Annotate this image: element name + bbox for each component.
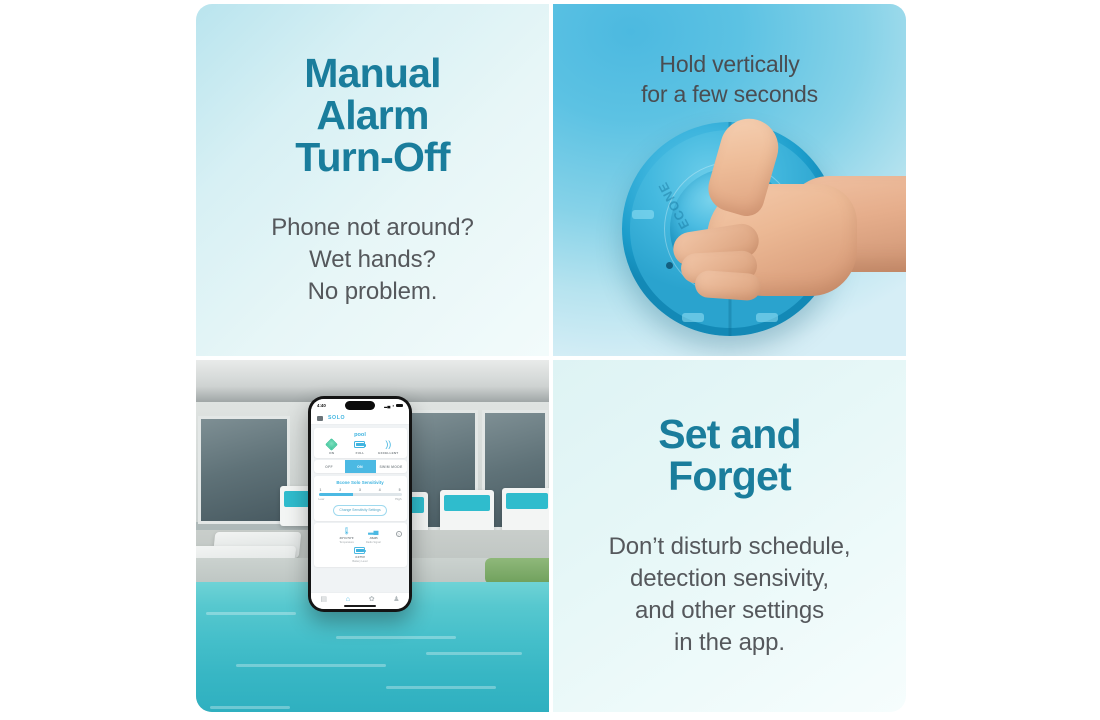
gear-icon[interactable]: ✿: [369, 596, 375, 603]
lawn: [485, 558, 549, 584]
dynamic-island: [345, 401, 375, 410]
mode-button-swim[interactable]: SWIM MODE: [376, 460, 407, 473]
finger: [694, 270, 762, 302]
feature-panel-grid: Manual Alarm Turn-Off Phone not around? …: [196, 4, 904, 716]
stat-radio-signal: ▂▄ -66dB Radio Signal: [366, 527, 381, 544]
device-stats-card: ? 🌡 26°C/79°F Temperature ▂▄ -66dB Radio…: [314, 523, 407, 567]
sensitivity-card: Bcone Solo Sensitivity 1 2 3 4 5 Low: [314, 476, 407, 521]
subtext-line-2: detection sensivity,: [609, 563, 851, 595]
tick-3: 3: [359, 488, 361, 492]
stat-value: 3.075V: [355, 555, 365, 559]
headline-line-3: Turn-Off: [295, 136, 450, 178]
sensitivity-slider[interactable]: [319, 493, 402, 496]
status-item-battery: FULL: [347, 440, 373, 455]
tick-2: 2: [339, 488, 341, 492]
device-notch: [632, 210, 654, 219]
subtext-line-1: Phone not around?: [271, 212, 473, 244]
caption-line-1: Hold vertically: [553, 50, 906, 80]
sensitivity-title: Bcone Solo Sensitivity: [319, 480, 402, 485]
hamburger-menu-icon[interactable]: [317, 416, 323, 421]
patio-chair: [440, 490, 494, 534]
subtext-line-3: and other settings: [609, 595, 851, 627]
status-label: EXCELLENT: [378, 451, 398, 455]
phone-screen: 4:40 ▂▄ ◗ SOLO pool: [311, 399, 409, 609]
headline-line-1: Manual: [295, 52, 450, 94]
stat-label: Radio Signal: [366, 541, 381, 544]
panel-app-photo: 4:40 ▂▄ ◗ SOLO pool: [196, 360, 549, 712]
device-status-card: pool ON FULL )): [314, 428, 407, 458]
battery-icon: [354, 440, 365, 450]
caption-line-2: for a few seconds: [553, 80, 906, 110]
stats-row-top: 🌡 26°C/79°F Temperature ▂▄ -66dB Radio S…: [318, 527, 403, 544]
subtext-line-1: Don’t disturb schedule,: [609, 531, 851, 563]
stat-label: Battery Level: [352, 560, 367, 563]
signal-bars-icon: ▂▄: [368, 527, 378, 535]
thermometer-icon: 🌡: [342, 527, 351, 535]
panel-manual-alarm-turn-off: Manual Alarm Turn-Off Phone not around? …: [196, 4, 549, 356]
tick-4: 4: [379, 488, 381, 492]
smartphone: 4:40 ▂▄ ◗ SOLO pool: [308, 396, 412, 612]
status-bar-indicators: ▂▄ ◗: [384, 403, 403, 408]
tick-1: 1: [320, 488, 322, 492]
battery-icon: [354, 546, 365, 554]
battery-icon: [396, 404, 403, 407]
subtext-line-2: Wet hands?: [271, 244, 473, 276]
home-indicator: [344, 605, 376, 607]
set-and-forget-headline: Set and Forget: [658, 413, 801, 497]
home-icon[interactable]: ⌂: [346, 596, 350, 603]
headline-line-1: Set and: [658, 413, 801, 455]
manual-alarm-subtext: Phone not around? Wet hands? No problem.: [271, 212, 473, 308]
sensitivity-low-label: Low: [319, 497, 325, 501]
mode-button-on[interactable]: ON: [345, 460, 376, 473]
person-icon[interactable]: ♟: [393, 596, 399, 603]
panel-hold-vertically: Hold vertically for a few seconds ECONE: [553, 4, 906, 356]
mode-selector: OFF ON SWIM MODE: [314, 460, 407, 473]
promo-graphic: Manual Alarm Turn-Off Phone not around? …: [0, 0, 1100, 720]
headline-line-2: Alarm: [295, 94, 450, 136]
mode-button-off[interactable]: OFF: [314, 460, 345, 473]
headline-line-2: Forget: [658, 455, 801, 497]
change-sensitivity-settings-button[interactable]: Change Sensitivity Settings: [333, 505, 386, 516]
subtext-line-4: in the app.: [609, 627, 851, 659]
tick-5: 5: [399, 488, 401, 492]
stat-battery-level: 3.075V Battery Level: [352, 546, 367, 563]
status-item-power: ON: [319, 440, 345, 455]
phone-status-bar: 4:40 ▂▄ ◗: [311, 399, 409, 412]
stat-label: Temperature: [339, 541, 354, 544]
app-top-bar: SOLO: [311, 412, 409, 425]
status-bar-time: 4:40: [317, 403, 326, 408]
panel-set-and-forget: Set and Forget Don’t disturb schedule, d…: [553, 360, 906, 712]
patio-chair: [502, 488, 549, 532]
signal-waves-icon: )): [385, 440, 391, 450]
wifi-icon: ◗: [392, 403, 395, 408]
status-label: FULL: [356, 451, 365, 455]
hold-vertically-caption: Hold vertically for a few seconds: [553, 50, 906, 110]
sensitivity-end-labels: Low High: [319, 497, 402, 501]
hand-holding-device: [665, 154, 906, 322]
cellular-icon: ▂▄: [384, 403, 390, 408]
window: [198, 416, 290, 524]
sensitivity-slider-fill: [319, 493, 354, 496]
list-icon[interactable]: ▤: [320, 596, 327, 603]
set-and-forget-subtext: Don’t disturb schedule, detection sensiv…: [609, 531, 851, 659]
diamond-sensor-icon: [327, 440, 336, 450]
question-mark-icon[interactable]: ?: [396, 531, 402, 537]
manual-alarm-headline: Manual Alarm Turn-Off: [295, 52, 450, 179]
stat-temperature: 🌡 26°C/79°F Temperature: [339, 527, 354, 544]
sensitivity-high-label: High: [395, 497, 401, 501]
status-indicator-row: ON FULL )) EXCELLENT: [318, 440, 403, 455]
sensitivity-ticks: 1 2 3 4 5: [319, 488, 402, 492]
zone-name: pool: [318, 432, 403, 438]
stat-value: -66dB: [369, 536, 378, 540]
status-item-signal: )) EXCELLENT: [376, 440, 402, 455]
app-title: SOLO: [328, 415, 345, 421]
status-label: ON: [329, 451, 334, 455]
stat-value: 26°C/79°F: [339, 536, 353, 540]
stats-row-bottom: 3.075V Battery Level: [318, 546, 403, 563]
subtext-line-3: No problem.: [271, 276, 473, 308]
